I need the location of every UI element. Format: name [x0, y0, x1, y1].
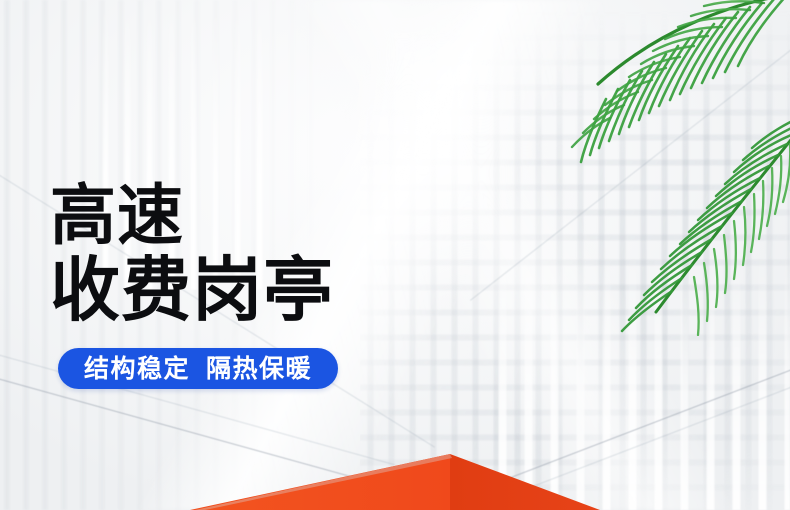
headline-line-1: 高速 — [50, 182, 334, 249]
feature-badge-text-2: 隔热保暖 — [206, 356, 312, 381]
feature-badge[interactable]: 结构稳定 隔热保暖 — [58, 348, 338, 389]
orange-roof-shape — [0, 450, 790, 510]
feature-badge-text-1: 结构稳定 — [84, 356, 190, 381]
headline-line-2: 收费岗亭 — [50, 255, 334, 326]
promo-banner: 高速 收费岗亭 结构稳定 隔热保暖 — [0, 0, 790, 510]
headline-block: 高速 收费岗亭 — [50, 182, 334, 327]
